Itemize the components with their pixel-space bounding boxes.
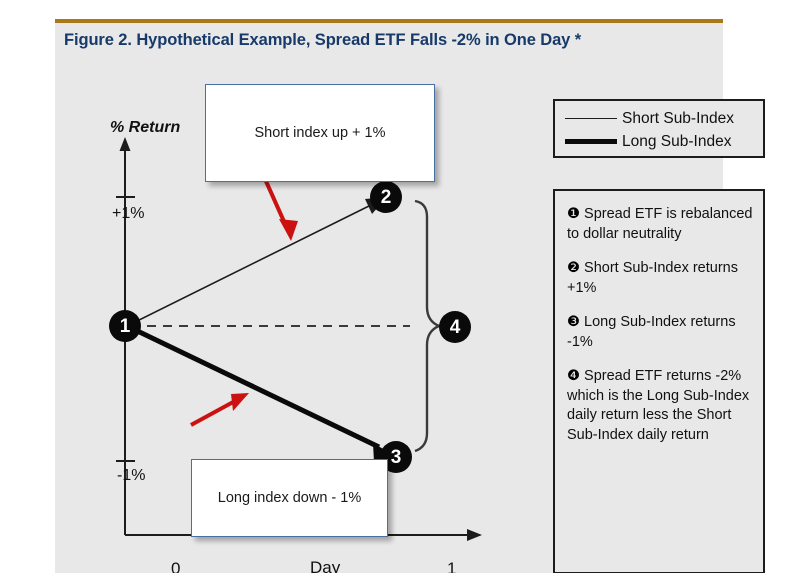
note-item-3: ❸ Long Sub-Index returns -1% [567,313,753,352]
callout-short-index: Short index up + 1% [205,84,435,182]
figure-screenshot: Figure 2. Hypothetical Example, Spread E… [0,0,786,573]
marker-1: 1 [109,310,141,342]
red-arrow-short [265,179,298,241]
y-tick-label-minus-one: -1% [117,467,145,485]
long-sub-index-line [127,326,397,462]
note-item-1: ❶ Spread ETF is rebalanced to dollar neu… [567,205,753,244]
red-arrow-long [191,393,249,425]
chart-legend: Short Sub-Index Long Sub-Index [553,99,765,158]
legend-item-long: Long Sub-Index [563,130,755,153]
note-3-marker-icon: ❸ [567,314,580,330]
marker-2-label: 2 [381,187,392,208]
marker-1-label: 1 [120,316,131,337]
callout-long-index: Long index down - 1% [191,459,388,537]
legend-item-short: Short Sub-Index [563,107,755,130]
note-item-2: ❷ Short Sub-Index returns +1% [567,259,753,298]
note-4-text: Spread ETF returns -2% which is the Long… [567,368,749,443]
note-1-text: Spread ETF is rebalanced to dollar neutr… [567,206,752,242]
x-axis-label: Day [310,558,340,573]
marker-4: 4 [439,311,471,343]
notes-box: ❶ Spread ETF is rebalanced to dollar neu… [553,189,765,573]
note-2-text: Short Sub-Index returns +1% [567,260,738,296]
x-tick-label-one: 1 [447,559,456,573]
y-axis-label: % Return [110,119,180,137]
legend-label-long: Long Sub-Index [619,133,731,151]
note-2-marker-icon: ❷ [567,260,580,276]
note-item-4: ❹ Spread ETF returns -2% which is the Lo… [567,367,753,445]
short-sub-index-line [127,197,387,326]
legend-label-short: Short Sub-Index [619,110,734,128]
callout-short-text: Short index up + 1% [255,125,386,141]
x-tick-label-zero: 0 [171,559,180,573]
marker-4-label: 4 [450,317,461,338]
spread-brace [415,201,439,451]
legend-line-thin-icon [563,118,619,119]
figure-panel: Figure 2. Hypothetical Example, Spread E… [55,19,723,573]
marker-3-label: 3 [391,447,402,468]
legend-line-thick-icon [563,139,619,144]
y-tick-label-plus-one: +1% [112,205,144,223]
note-3-text: Long Sub-Index returns -1% [567,314,736,350]
note-1-marker-icon: ❶ [567,206,580,222]
note-4-marker-icon: ❹ [567,368,580,384]
marker-2: 2 [370,181,402,213]
callout-long-text: Long index down - 1% [218,490,362,506]
